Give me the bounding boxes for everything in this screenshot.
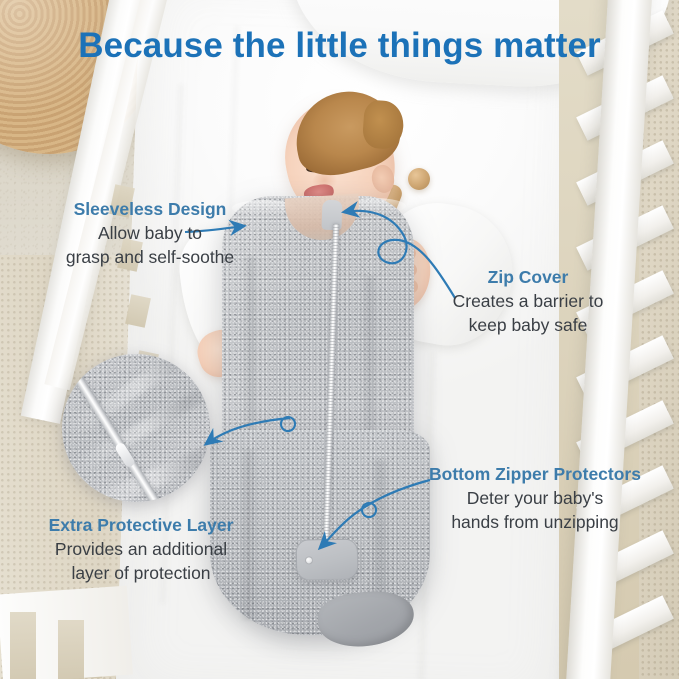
- callout-body-line1: Allow baby to: [34, 223, 266, 244]
- snap-button: [305, 556, 313, 564]
- callout-bottom-zipper-protectors: Bottom Zipper Protectors Deter your baby…: [404, 464, 666, 534]
- callout-zip-cover: Zip Cover Creates a barrier to keep baby…: [408, 267, 648, 337]
- callout-extra-protective-layer: Extra Protective Layer Provides an addit…: [12, 515, 270, 585]
- callout-title: Extra Protective Layer: [12, 515, 270, 536]
- zip-cover-flap: [321, 200, 342, 231]
- callout-title: Bottom Zipper Protectors: [404, 464, 666, 485]
- page-headline: Because the little things matter: [0, 26, 679, 67]
- callout-sleeveless-design: Sleeveless Design Allow baby to grasp an…: [34, 199, 266, 269]
- callout-body-line1: Provides an additional: [12, 539, 270, 560]
- callout-title: Zip Cover: [408, 267, 648, 288]
- callout-body-line2: layer of protection: [12, 563, 270, 584]
- callout-body-line2: grasp and self-soothe: [34, 247, 266, 268]
- callout-body-line1: Deter your baby's: [404, 488, 666, 509]
- crib-slat-gap: [58, 620, 84, 679]
- callout-body-line2: keep baby safe: [408, 315, 648, 336]
- callout-body-line2: hands from unzipping: [404, 512, 666, 533]
- crib-slat-gap: [10, 612, 36, 679]
- infographic-canvas: Because the little things matter Sleevel…: [0, 0, 679, 679]
- callout-title: Sleeveless Design: [34, 199, 266, 220]
- callout-body-line1: Creates a barrier to: [408, 291, 648, 312]
- bottom-zipper-protector-flap: [296, 538, 359, 580]
- wooden-toy-bead: [408, 168, 430, 190]
- zipper-detail-inset: [62, 354, 210, 502]
